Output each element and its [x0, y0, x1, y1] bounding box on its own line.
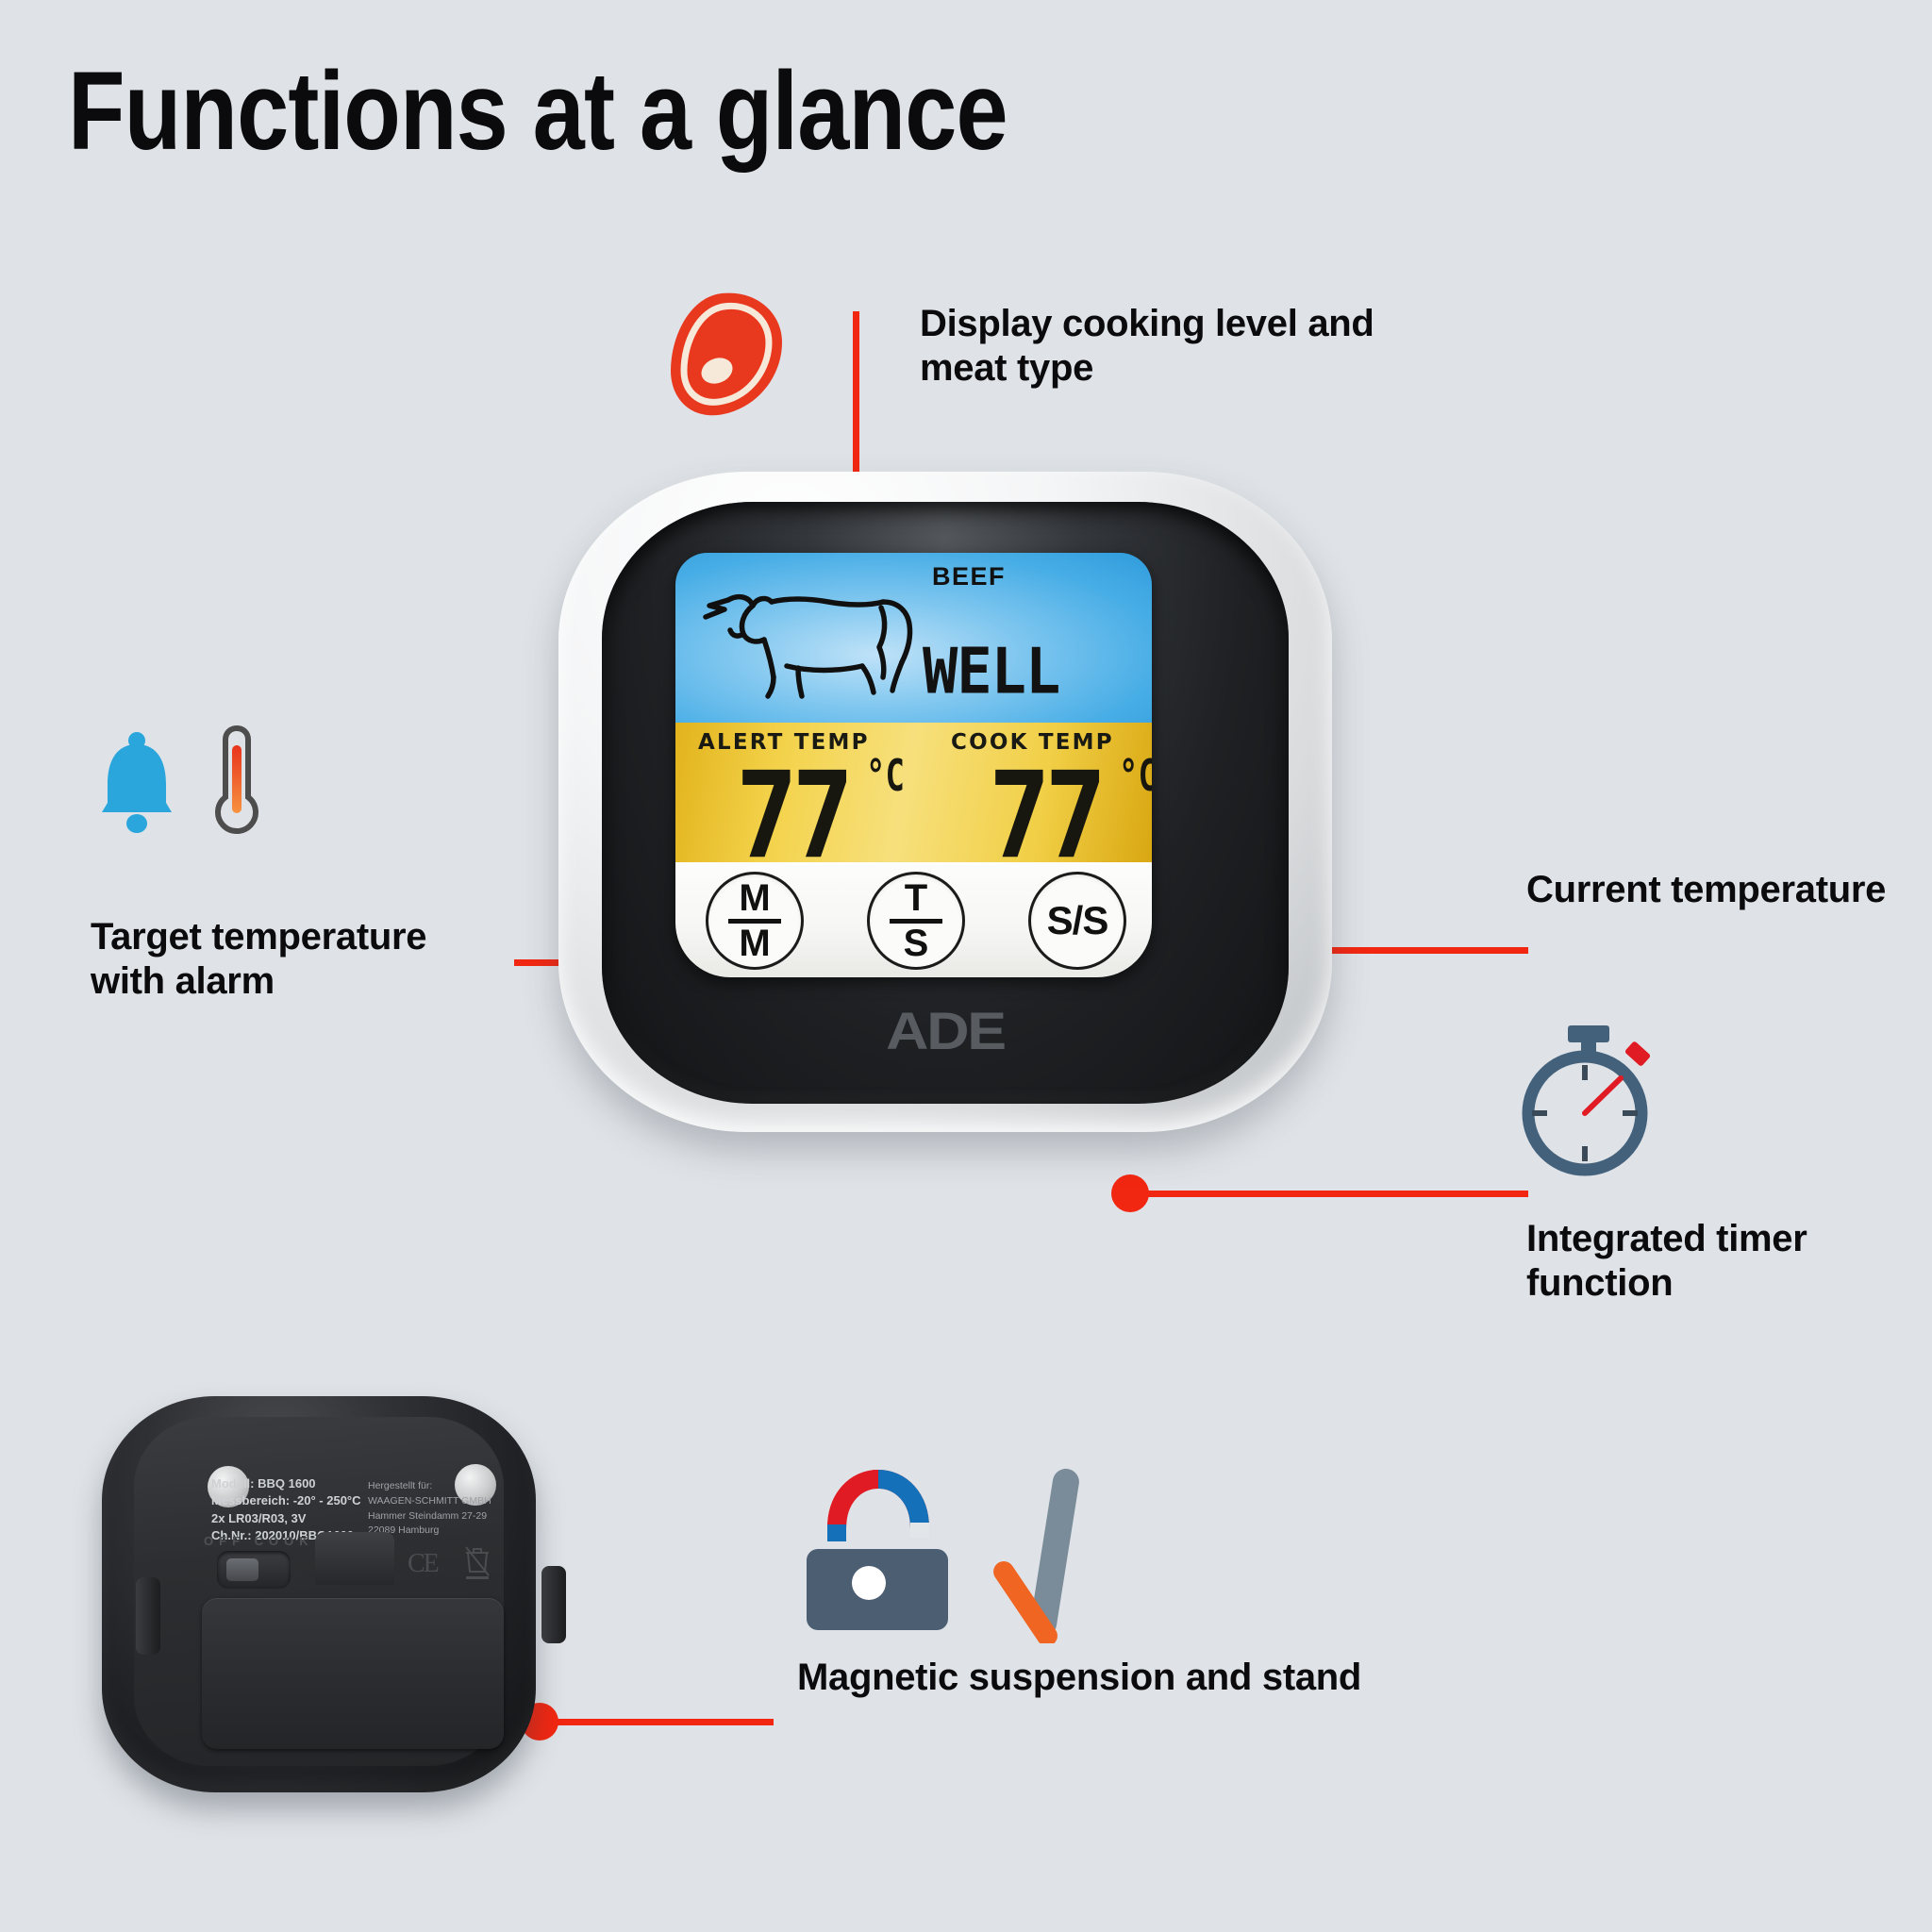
alert-temp-block: ALERT TEMP 77 °C	[681, 723, 917, 862]
bell-icon	[94, 731, 179, 835]
thermometer-icon	[209, 724, 264, 842]
magnet-icon	[807, 1470, 953, 1640]
lcd-yellow-region: ALERT TEMP 77 °C COOK TEMP 77 °C	[675, 723, 1152, 862]
battery-compartment-door[interactable]	[202, 1598, 504, 1749]
button-mm-top: M	[739, 881, 770, 916]
mode-switch-knob[interactable]	[226, 1558, 258, 1581]
button-meat-mode[interactable]: M M	[706, 872, 804, 970]
leader-line-timer	[1141, 1191, 1528, 1197]
button-ts-top: T	[905, 881, 927, 916]
back-inner-plate: Modell: BBQ 1600 Messbereich: -20° - 250…	[134, 1417, 504, 1766]
back-manufacturer-text: Hergestellt für: WAAGEN-SCHMITT GMBH Ham…	[368, 1479, 491, 1539]
side-tab-left	[136, 1577, 160, 1655]
button-timer-set[interactable]: T S	[867, 872, 965, 970]
weee-bin-icon	[462, 1543, 492, 1581]
callout-label-current: Current temperature	[1526, 868, 1923, 912]
alert-temp-unit: °C	[866, 751, 905, 802]
page-title: Functions at a glance	[68, 55, 1008, 168]
button-ts-bottom: S	[904, 926, 929, 961]
button-strip: M M T S S/S	[675, 862, 1152, 977]
ce-mark: CE	[408, 1549, 438, 1579]
thermometer-front-view: BEEF	[558, 472, 1332, 1132]
cook-temp-unit: °C	[1119, 751, 1152, 802]
thermometer-back-view: Modell: BBQ 1600 Messbereich: -20° - 250…	[102, 1396, 536, 1792]
button-mm-bottom: M	[739, 926, 770, 961]
callout-label-magnet: Magnetic suspension and stand	[797, 1656, 1363, 1700]
callout-label-target: Target temperature with alarm	[91, 915, 487, 1004]
button-mm-stack: M M	[728, 881, 781, 961]
brand-logo: ADE	[512, 1000, 1378, 1061]
button-ts-stack: T S	[890, 881, 942, 961]
side-tab-right	[541, 1566, 566, 1643]
button-ss-label: S/S	[1047, 898, 1108, 943]
leader-line-magnet	[538, 1719, 774, 1725]
steak-icon	[665, 288, 788, 420]
cow-icon	[696, 585, 921, 700]
lcd-meat-type-label: BEEF	[932, 562, 1006, 591]
leader-line-current	[1311, 947, 1528, 954]
lcd-panel: BEEF	[675, 553, 1152, 977]
callout-label-timer: Integrated timer function	[1526, 1217, 1932, 1306]
stand-icon	[992, 1464, 1106, 1643]
callout-label-display: Display cooking level and meat type	[920, 302, 1448, 391]
mode-switch[interactable]	[217, 1551, 291, 1589]
leader-dot-timer	[1111, 1174, 1149, 1212]
stopwatch-icon	[1515, 1024, 1661, 1179]
fold-out-stand[interactable]	[315, 1532, 394, 1585]
infographic-canvas: Functions at a glance	[0, 0, 1932, 1932]
button-start-stop[interactable]: S/S	[1028, 872, 1126, 970]
cook-temp-block: COOK TEMP 77 °C	[915, 723, 1151, 862]
lcd-cooking-level: WELL	[923, 634, 1059, 708]
lcd-blue-region: BEEF	[675, 553, 1152, 723]
